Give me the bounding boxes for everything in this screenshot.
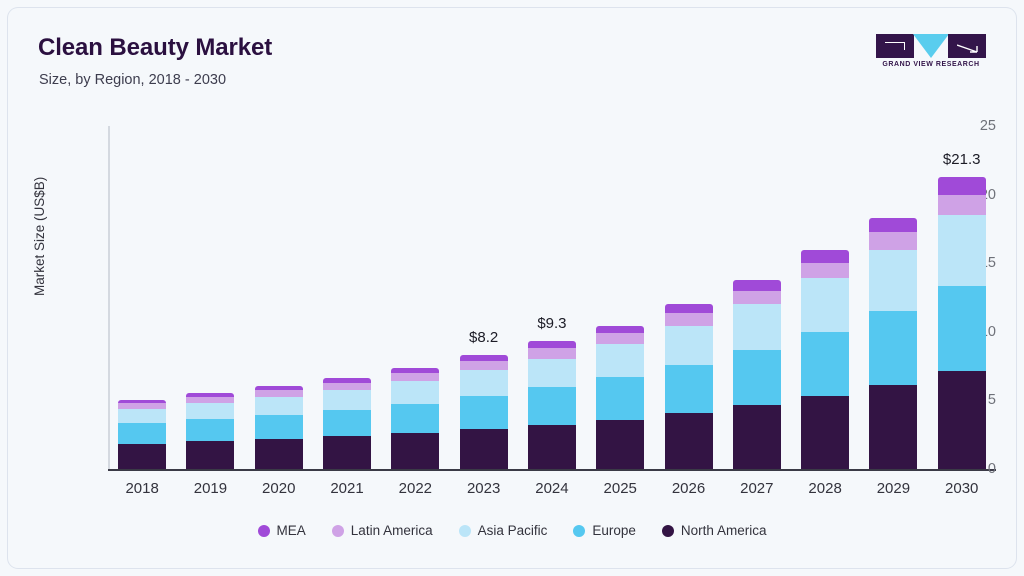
x-axis-label-2020: 2020	[245, 480, 313, 508]
logo-g-glyph-icon	[885, 42, 905, 50]
bar-group-2024[interactable]: $9.3	[518, 126, 586, 469]
bar-segment-north-america[interactable]	[733, 405, 781, 469]
bar-segment-mea[interactable]	[801, 250, 849, 262]
bar-segment-mea[interactable]	[596, 326, 644, 334]
x-axis-label-2018: 2018	[108, 480, 176, 508]
x-axis-label-2029: 2029	[859, 480, 927, 508]
legend-swatch-icon	[662, 525, 674, 537]
bar-segment-latin-america[interactable]	[801, 263, 849, 279]
bar-segment-asia-pacific[interactable]	[391, 381, 439, 404]
bar-value-label-2024: $9.3	[537, 315, 566, 332]
chart-screenshot: Clean Beauty Market Size, by Region, 201…	[0, 0, 1024, 576]
bar-group-2022[interactable]	[381, 126, 449, 469]
legend-swatch-icon	[573, 525, 585, 537]
x-axis-label-2024: 2024	[518, 480, 586, 508]
bar-group-2020[interactable]	[245, 126, 313, 469]
bar-segment-asia-pacific[interactable]	[665, 326, 713, 365]
x-axis-label-2025: 2025	[586, 480, 654, 508]
grand-view-research-logo: GRAND VIEW RESEARCH	[876, 34, 986, 72]
bar-segment-asia-pacific[interactable]	[323, 390, 371, 410]
bar-segment-latin-america[interactable]	[460, 361, 508, 370]
bar-segment-latin-america[interactable]	[255, 390, 303, 397]
x-axis-line	[108, 469, 996, 471]
bar-segment-europe[interactable]	[596, 377, 644, 420]
logo-mark	[876, 34, 986, 58]
x-axis-label-2022: 2022	[381, 480, 449, 508]
bar-segment-north-america[interactable]	[801, 396, 849, 469]
bar-segment-asia-pacific[interactable]	[938, 215, 986, 286]
bar-segment-mea[interactable]	[733, 280, 781, 290]
stacked-bar[interactable]	[596, 326, 644, 469]
legend-item-latin-america[interactable]: Latin America	[332, 523, 433, 538]
bar-segment-europe[interactable]	[665, 365, 713, 413]
legend-label: North America	[681, 523, 767, 538]
legend-item-asia-pacific[interactable]: Asia Pacific	[459, 523, 548, 538]
bar-segment-north-america[interactable]	[460, 429, 508, 469]
bar-segment-europe[interactable]	[733, 350, 781, 404]
logo-right-box-icon	[948, 34, 986, 58]
bar-segment-asia-pacific[interactable]	[869, 250, 917, 312]
x-axis-label-2019: 2019	[176, 480, 244, 508]
bar-segment-latin-america[interactable]	[938, 195, 986, 216]
bar-segment-north-america[interactable]	[596, 420, 644, 469]
bar-group-2027[interactable]	[723, 126, 791, 469]
bar-segment-north-america[interactable]	[869, 385, 917, 469]
stacked-bar[interactable]	[323, 378, 371, 469]
legend-item-north-america[interactable]: North America	[662, 523, 767, 538]
bar-segment-north-america[interactable]	[391, 433, 439, 469]
x-axis-label-2021: 2021	[313, 480, 381, 508]
bar-segment-latin-america[interactable]	[665, 313, 713, 325]
bar-segment-europe[interactable]	[186, 419, 234, 441]
logo-text: GRAND VIEW RESEARCH	[876, 61, 986, 68]
bar-group-2021[interactable]	[313, 126, 381, 469]
x-axis-labels: 2018201920202021202220232024202520262027…	[108, 480, 996, 508]
bar-segment-asia-pacific[interactable]	[255, 397, 303, 415]
page-title: Clean Beauty Market	[38, 34, 272, 62]
legend-label: Europe	[592, 523, 636, 538]
stacked-bar[interactable]	[665, 304, 713, 469]
x-axis-label-2023: 2023	[450, 480, 518, 508]
bar-segment-mea[interactable]	[938, 177, 986, 195]
bar-group-2030[interactable]: $21.3	[928, 126, 996, 469]
bar-segment-north-america[interactable]	[528, 425, 576, 469]
bar-segment-north-america[interactable]	[186, 441, 234, 469]
bar-segment-asia-pacific[interactable]	[596, 344, 644, 377]
bar-segment-europe[interactable]	[255, 415, 303, 439]
bar-segment-latin-america[interactable]	[528, 348, 576, 358]
stacked-bar[interactable]	[528, 341, 576, 469]
bar-segment-asia-pacific[interactable]	[460, 370, 508, 396]
legend-swatch-icon	[459, 525, 471, 537]
chart-legend: MEALatin AmericaAsia PacificEuropeNorth …	[8, 523, 1016, 538]
bar-group-2028[interactable]	[791, 126, 859, 469]
bar-segment-europe[interactable]	[869, 311, 917, 384]
bar-segment-europe[interactable]	[801, 332, 849, 396]
legend-label: Asia Pacific	[478, 523, 548, 538]
bar-group-2018[interactable]	[108, 126, 176, 469]
bar-segment-mea[interactable]	[869, 218, 917, 232]
x-axis-label-2026: 2026	[655, 480, 723, 508]
bar-segment-north-america[interactable]	[323, 436, 371, 469]
x-axis-label-2027: 2027	[723, 480, 791, 508]
bar-group-2026[interactable]	[655, 126, 723, 469]
bar-group-2029[interactable]	[859, 126, 927, 469]
y-axis-label: Market Size (US$B)	[32, 177, 47, 296]
bar-segment-asia-pacific[interactable]	[733, 304, 781, 350]
logo-left-box-icon	[876, 34, 914, 58]
plot-area: 0510152025 $8.2$9.3$21.3	[108, 126, 996, 469]
chart-card: Clean Beauty Market Size, by Region, 201…	[8, 8, 1016, 568]
logo-arrow-glyph-icon	[957, 41, 979, 51]
bar-segment-asia-pacific[interactable]	[528, 359, 576, 388]
bar-segment-latin-america[interactable]	[869, 232, 917, 250]
stacked-bar[interactable]	[255, 386, 303, 469]
bar-segment-latin-america[interactable]	[323, 383, 371, 391]
bar-segment-europe[interactable]	[118, 423, 166, 444]
legend-swatch-icon	[258, 525, 270, 537]
bar-value-label-2023: $8.2	[469, 329, 498, 346]
bar-group-2023[interactable]: $8.2	[450, 126, 518, 469]
bar-segment-asia-pacific[interactable]	[186, 403, 234, 419]
bar-segment-latin-america[interactable]	[733, 291, 781, 305]
logo-triangle-icon	[913, 34, 949, 58]
stacked-bar[interactable]	[186, 393, 234, 469]
bar-segment-latin-america[interactable]	[391, 373, 439, 381]
legend-label: Latin America	[351, 523, 433, 538]
legend-item-europe[interactable]: Europe	[573, 523, 636, 538]
bar-segment-asia-pacific[interactable]	[801, 278, 849, 332]
bar-series-container: $8.2$9.3$21.3	[108, 126, 996, 469]
legend-label: MEA	[277, 523, 306, 538]
stacked-bar[interactable]	[391, 368, 439, 469]
bar-value-label-2030: $21.3	[943, 151, 981, 168]
legend-item-mea[interactable]: MEA	[258, 523, 306, 538]
bar-segment-europe[interactable]	[323, 410, 371, 436]
bar-segment-europe[interactable]	[938, 286, 986, 371]
stacked-bar[interactable]	[869, 218, 917, 469]
bar-group-2025[interactable]	[586, 126, 654, 469]
bar-segment-europe[interactable]	[391, 404, 439, 433]
bar-segment-north-america[interactable]	[938, 371, 986, 469]
legend-swatch-icon	[332, 525, 344, 537]
bar-segment-latin-america[interactable]	[596, 333, 644, 344]
bar-segment-mea[interactable]	[528, 341, 576, 348]
stacked-bar[interactable]	[460, 355, 508, 469]
bar-segment-north-america[interactable]	[255, 439, 303, 469]
bar-segment-europe[interactable]	[460, 396, 508, 429]
bar-group-2019[interactable]	[176, 126, 244, 469]
bar-segment-asia-pacific[interactable]	[118, 409, 166, 423]
bar-segment-mea[interactable]	[665, 304, 713, 313]
page-subtitle: Size, by Region, 2018 - 2030	[39, 72, 226, 88]
stacked-bar[interactable]	[733, 280, 781, 469]
stacked-bar[interactable]	[938, 177, 986, 469]
stacked-bar[interactable]	[801, 250, 849, 469]
stacked-bar[interactable]	[118, 400, 166, 469]
bar-segment-north-america[interactable]	[118, 444, 166, 469]
bar-segment-north-america[interactable]	[665, 413, 713, 469]
x-axis-label-2028: 2028	[791, 480, 859, 508]
x-axis-label-2030: 2030	[928, 480, 996, 508]
bar-segment-europe[interactable]	[528, 387, 576, 425]
